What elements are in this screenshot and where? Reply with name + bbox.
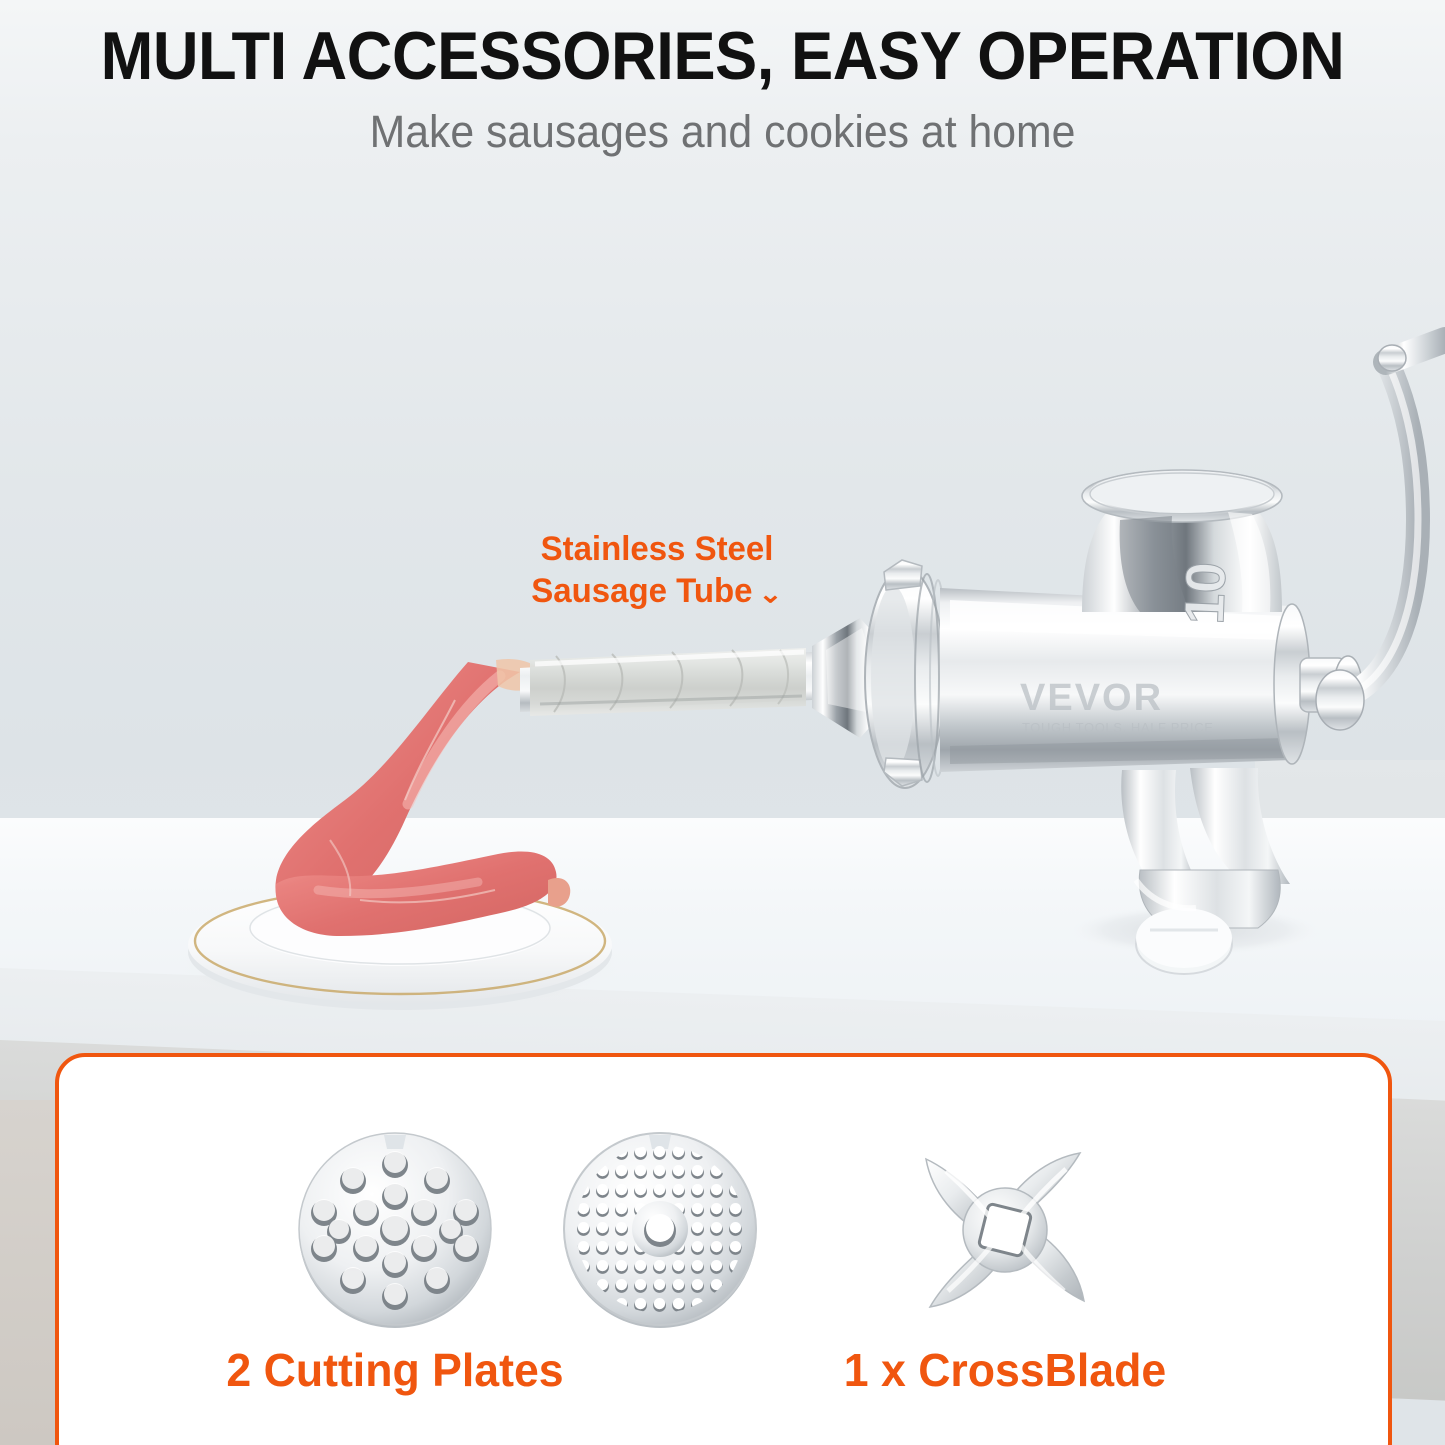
- headline-subtitle: Make sausages and cookies at home: [36, 106, 1409, 158]
- accessory-label-cross-blade: 1 x CrossBlade: [801, 1343, 1208, 1397]
- chevron-down-icon: ⌄: [758, 579, 782, 611]
- callout-line-2: Sausage Tube: [531, 572, 752, 610]
- marketing-image: MULTI ACCESSORIES, EASY OPERATION Make s…: [0, 0, 1445, 1445]
- accessory-label-cutting-plates: 2 Cutting Plates: [191, 1343, 598, 1397]
- grinder-plate-coarse-icon: [290, 1125, 500, 1335]
- headline-title: MULTI ACCESSORIES, EASY OPERATION: [51, 22, 1395, 91]
- callout-annotation: Stainless Steel Sausage Tube⌄: [502, 528, 812, 613]
- callout-line-1: Stainless Steel: [541, 530, 774, 568]
- grinder-plate-fine-icon: [555, 1125, 765, 1335]
- accessories-list: 2 Cutting Plates 1 x CrossBlade: [55, 1053, 1392, 1445]
- cross-blade-icon: [890, 1115, 1120, 1345]
